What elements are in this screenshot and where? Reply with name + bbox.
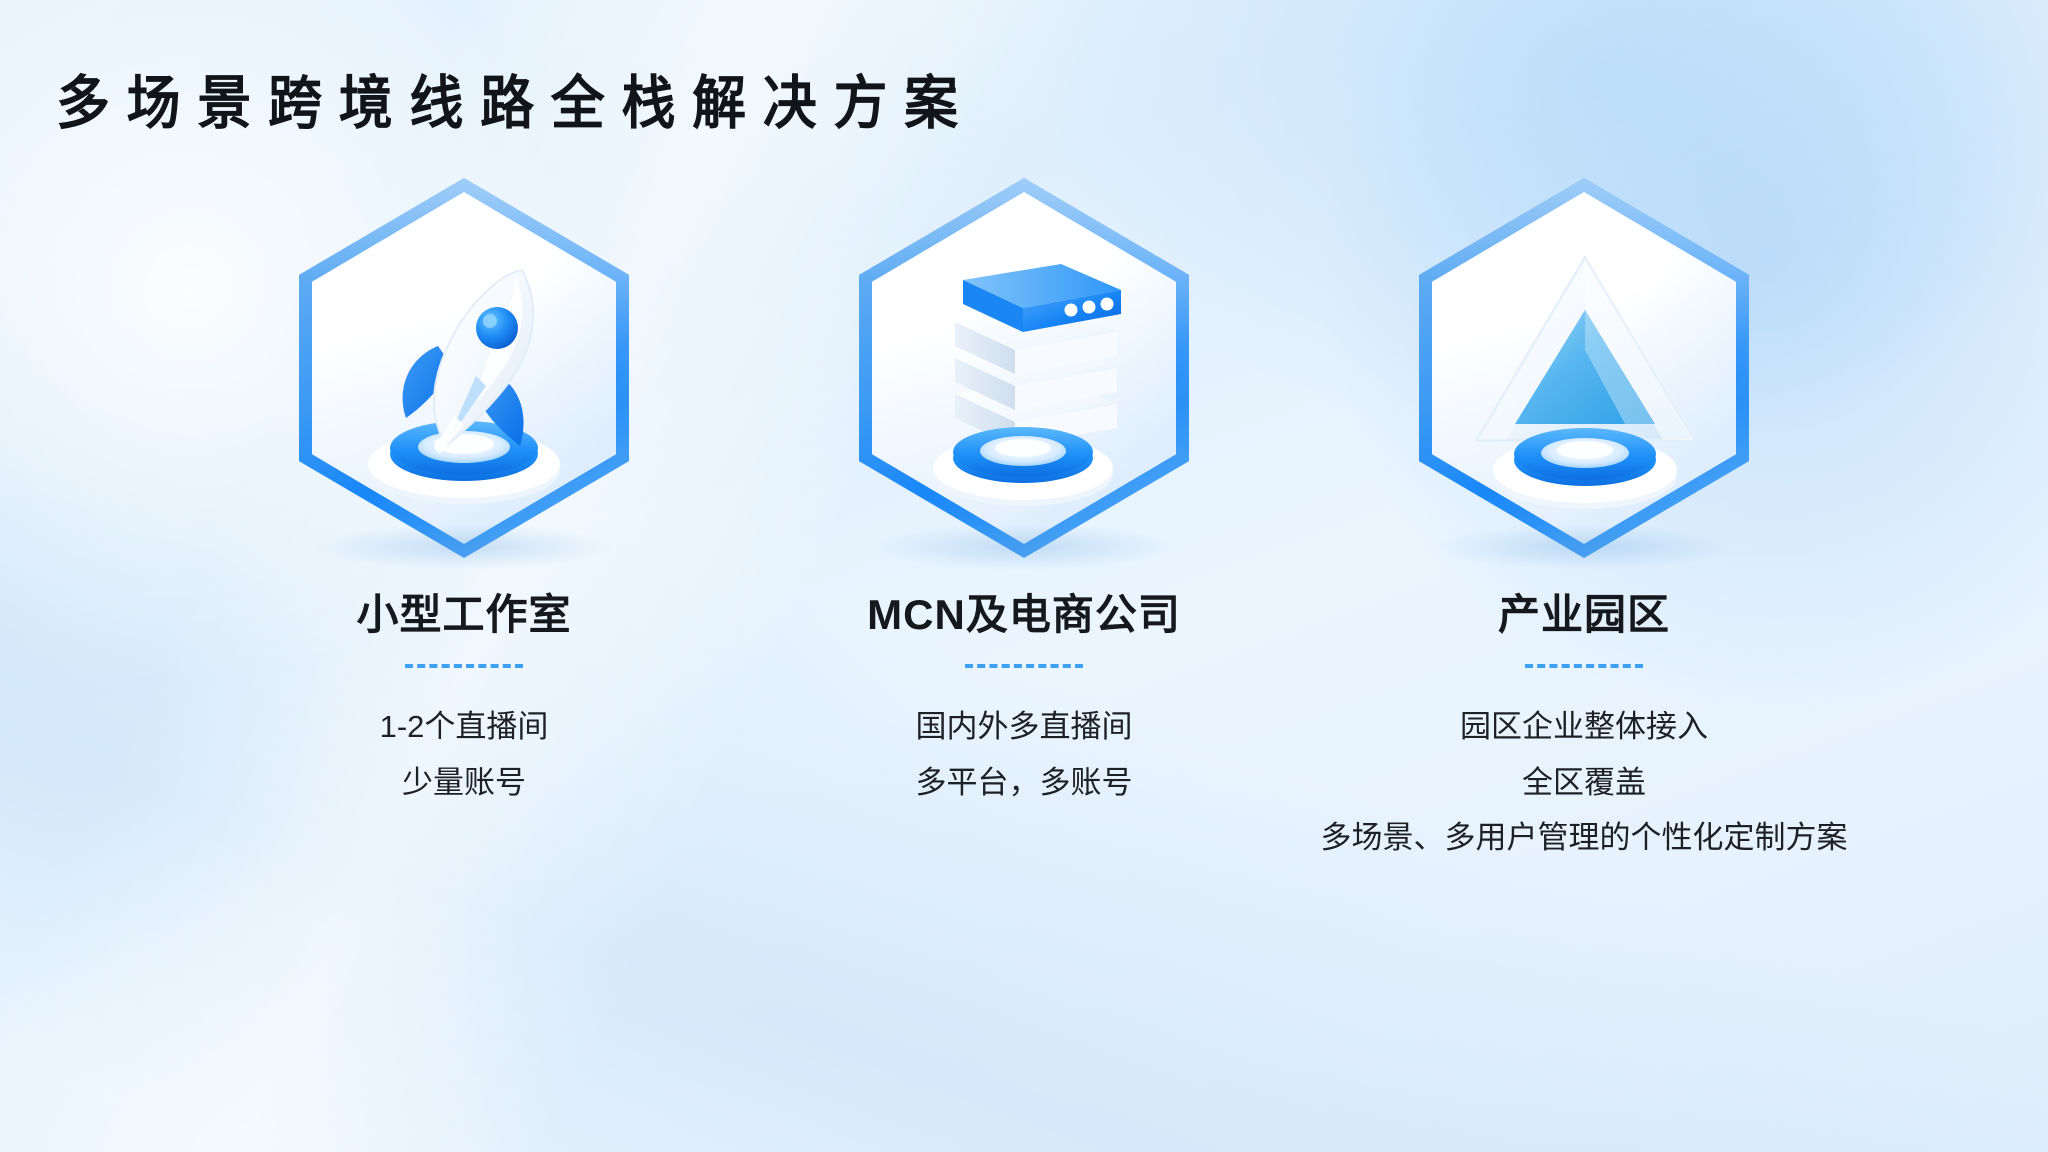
card-body-line: 多平台，多账号 bbox=[916, 756, 1133, 809]
pyramid-icon bbox=[1419, 178, 1749, 558]
card-body-line: 园区企业整体接入 bbox=[1321, 700, 1848, 753]
card-divider bbox=[965, 664, 1083, 668]
card-body-line: 少量账号 bbox=[380, 756, 549, 809]
rocket-icon bbox=[299, 178, 629, 558]
hexagon-badge bbox=[1419, 178, 1749, 558]
solution-card-industrial-park[interactable]: 产业园区 园区企业整体接入 全区覆盖 多场景、多用户管理的个性化定制方案 bbox=[1304, 178, 1864, 866]
card-body-line: 全区覆盖 bbox=[1321, 756, 1848, 809]
card-body: 1-2个直播间 少量账号 bbox=[380, 698, 549, 811]
card-body: 园区企业整体接入 全区覆盖 多场景、多用户管理的个性化定制方案 bbox=[1321, 698, 1848, 866]
solution-card-mcn[interactable]: MCN及电商公司 国内外多直播间 多平台，多账号 bbox=[744, 178, 1304, 811]
hexagon-badge bbox=[299, 178, 629, 558]
hexagon-badge bbox=[859, 178, 1189, 558]
server-stack-icon bbox=[859, 178, 1189, 558]
card-body: 国内外多直播间 多平台，多账号 bbox=[916, 698, 1133, 811]
card-divider bbox=[405, 664, 523, 668]
page-title: 多场景跨境线路全栈解决方案 bbox=[56, 56, 975, 140]
card-title: MCN及电商公司 bbox=[867, 592, 1181, 638]
card-title: 产业园区 bbox=[1498, 592, 1670, 638]
card-body-line: 1-2个直播间 bbox=[380, 700, 549, 753]
card-body-line: 国内外多直播间 bbox=[916, 700, 1133, 753]
solution-card-studio[interactable]: 小型工作室 1-2个直播间 少量账号 bbox=[184, 178, 744, 811]
solution-card-list: 小型工作室 1-2个直播间 少量账号 bbox=[0, 178, 2048, 866]
card-divider bbox=[1525, 664, 1643, 668]
card-title: 小型工作室 bbox=[356, 592, 571, 638]
card-body-line: 多场景、多用户管理的个性化定制方案 bbox=[1321, 811, 1848, 864]
